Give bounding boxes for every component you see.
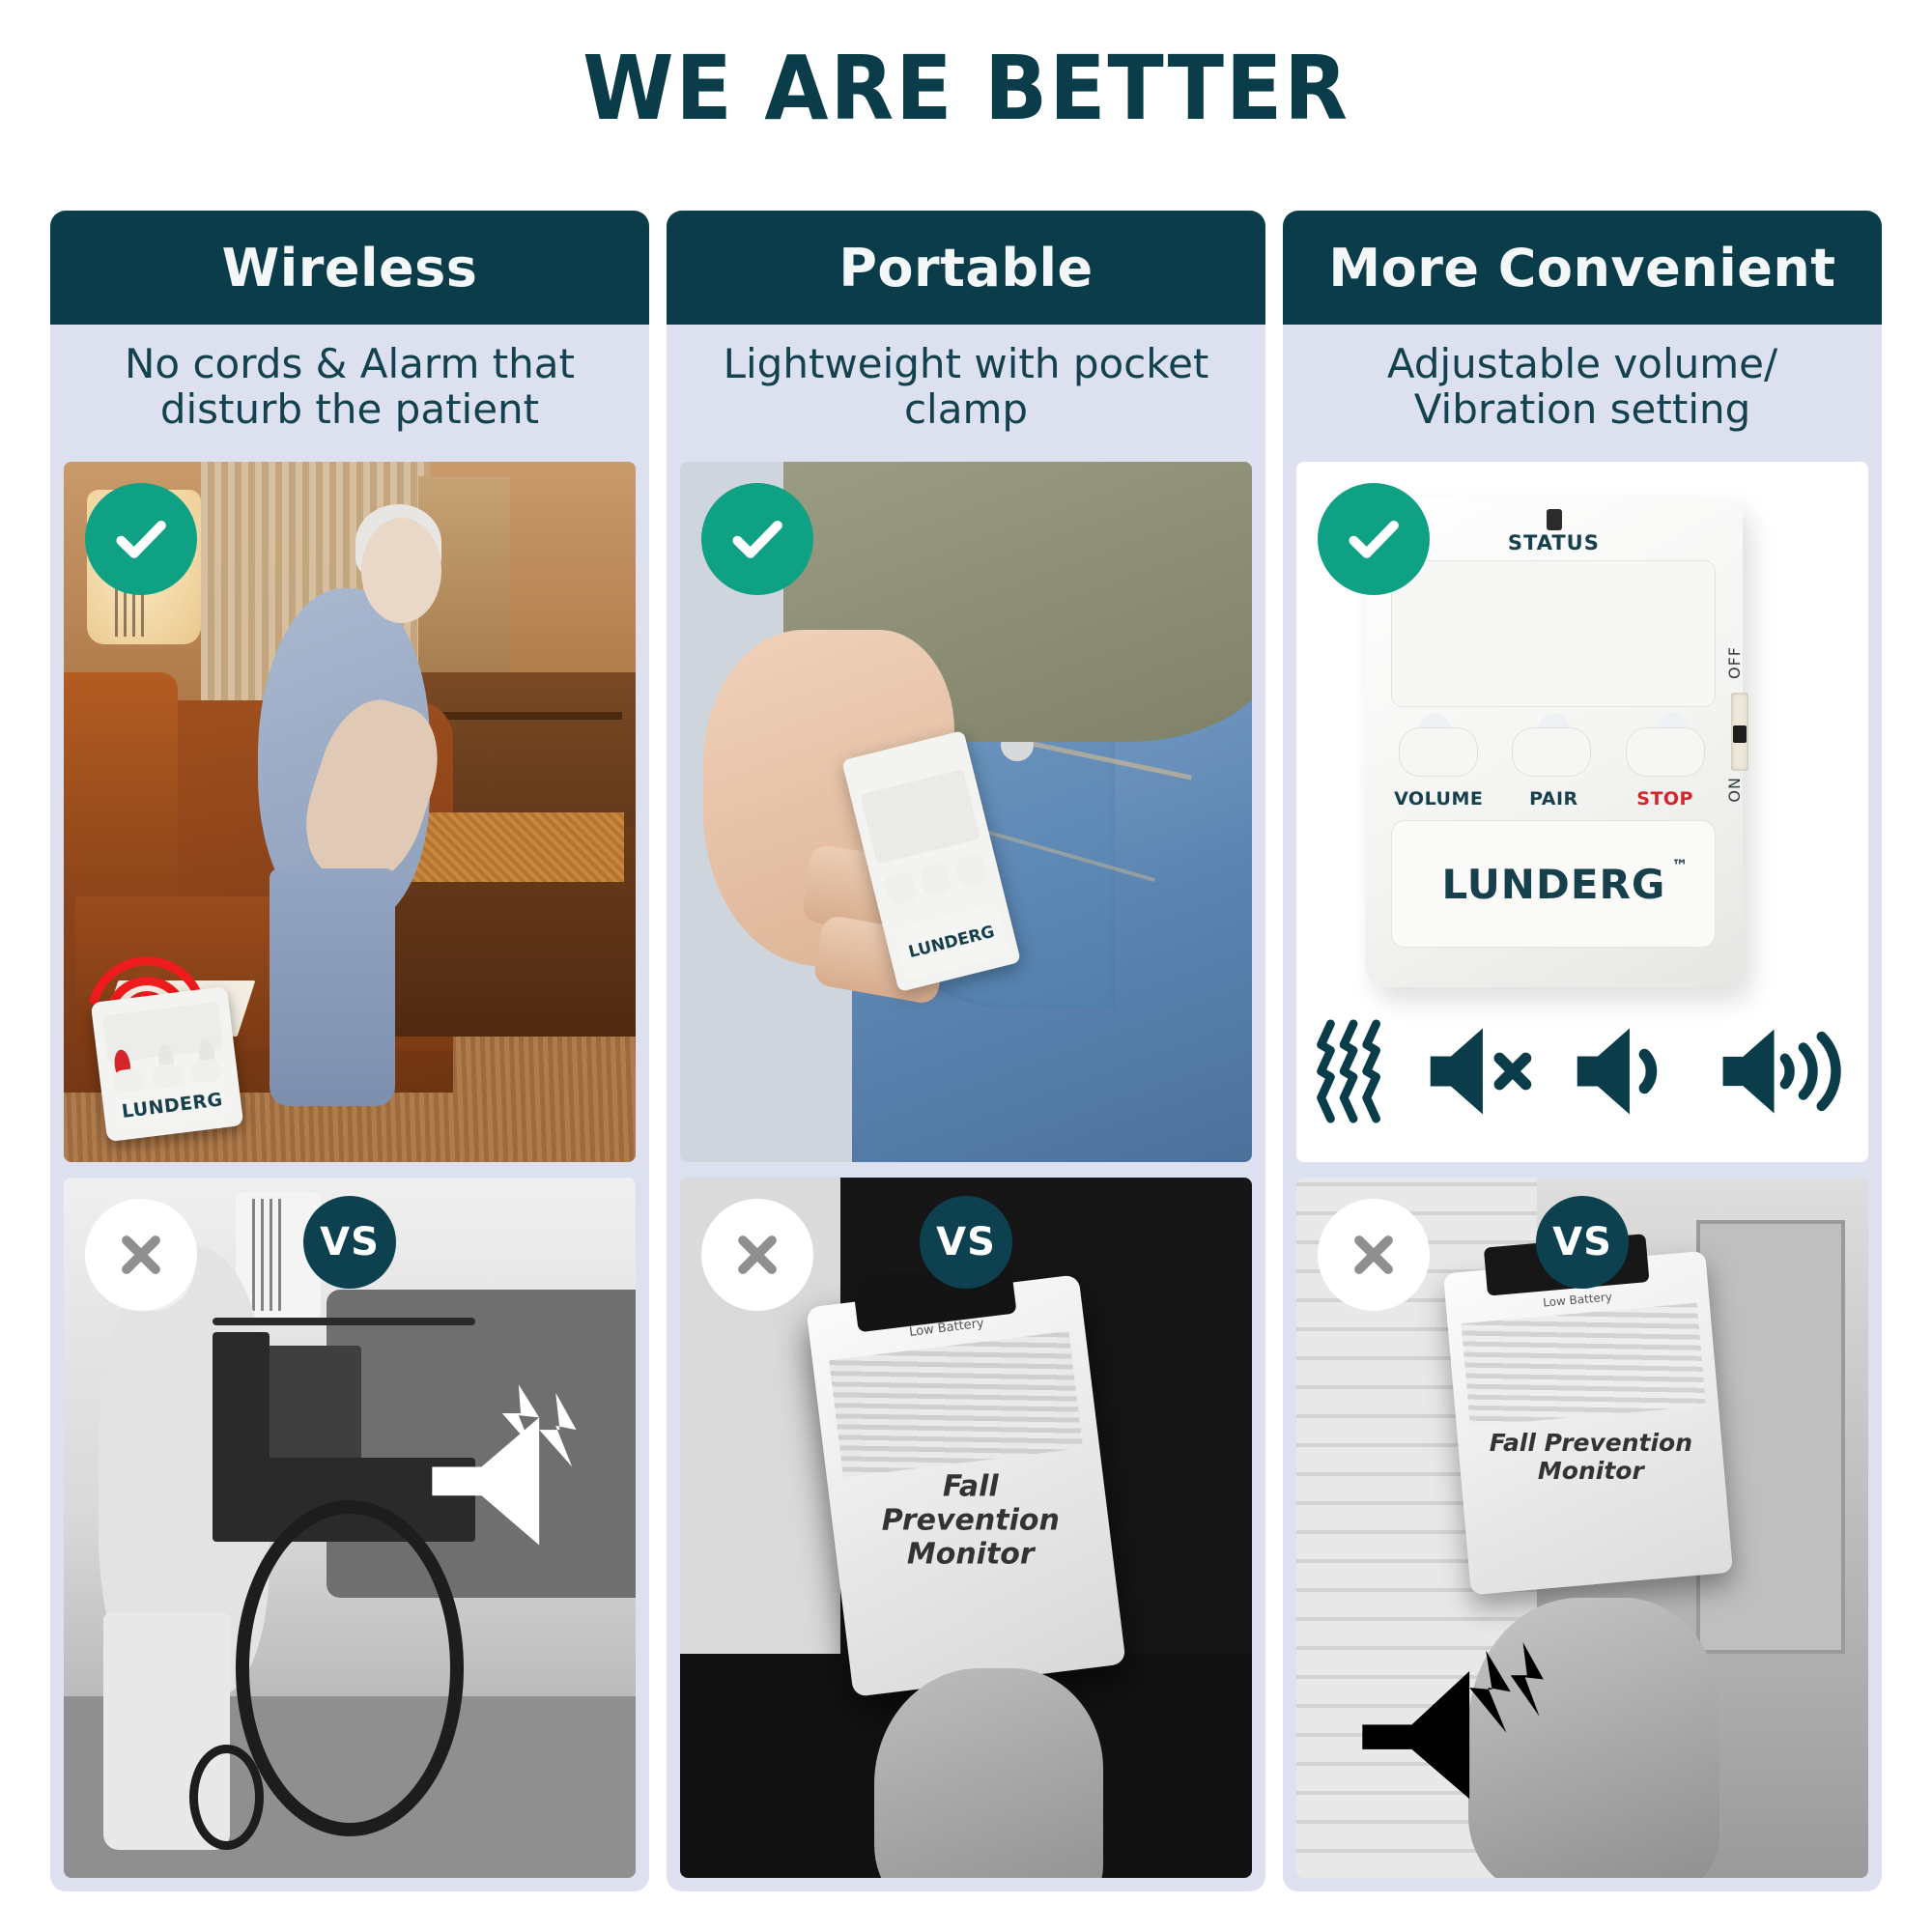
volume-icons-row [1314, 1015, 1851, 1127]
vs-badge-portable: VS [920, 1196, 1012, 1289]
check-icon [725, 507, 789, 571]
stop-button[interactable] [1626, 727, 1705, 777]
column-subtitle-portable: Lightweight with pocket clamp [667, 325, 1265, 448]
volume-high-icon [1716, 1020, 1851, 1122]
sensor-panel [1391, 560, 1716, 707]
competitor-monitor-device: Low Battery Fall Prevention Monitor [1443, 1251, 1733, 1595]
check-badge [85, 483, 197, 595]
low-battery-label: Low Battery [1524, 1290, 1631, 1311]
good-tile-more-convenient: STATUS Sensor 1 Sensor 2 [1296, 462, 1868, 1162]
switch-on-label: ON [1725, 777, 1744, 803]
cross-badge [1318, 1199, 1430, 1311]
column-wireless: Wireless No cords & Alarm that disturb t… [50, 211, 649, 1891]
check-icon [109, 507, 173, 571]
column-header-more-convenient: More Convenient [1283, 211, 1882, 325]
close-icon [1344, 1225, 1404, 1285]
column-portable: Portable Lightweight with pocket clamp [667, 211, 1265, 1891]
column-more-convenient: More Convenient Adjustable volume/ Vibra… [1283, 211, 1882, 1891]
column-body-portable: LUNDERG VS [667, 448, 1265, 1891]
brand-plate: LUNDERG™ [1391, 820, 1716, 948]
page-title: WE ARE BETTER [68, 37, 1864, 140]
check-badge [1318, 483, 1430, 595]
vs-badge-more-convenient: VS [1536, 1196, 1629, 1289]
switch-off-label: OFF [1725, 646, 1744, 679]
close-icon [727, 1225, 787, 1285]
status-led-icon [1547, 509, 1562, 530]
column-header-portable: Portable [667, 211, 1265, 325]
competitor-device-title: Fall Prevention Monitor [1475, 1429, 1707, 1485]
volume-low-icon [1570, 1020, 1686, 1122]
vibration-icon [1314, 1018, 1393, 1124]
column-body-wireless: LUNDERG VS [50, 448, 649, 1891]
volume-button-label: VOLUME [1389, 788, 1488, 810]
pair-button[interactable] [1512, 727, 1591, 777]
alarm-noise-icon [1342, 1626, 1548, 1836]
competitor-device-title: Fall Prevention Monitor [855, 1469, 1086, 1571]
alarm-noise-icon [395, 1360, 601, 1599]
check-icon [1342, 507, 1406, 571]
cross-badge [85, 1199, 197, 1311]
volume-mute-icon [1423, 1020, 1539, 1122]
good-tile-portable: LUNDERG [680, 462, 1252, 1162]
power-switch[interactable] [1731, 693, 1748, 771]
column-body-more-convenient: STATUS Sensor 1 Sensor 2 [1283, 448, 1882, 1891]
lunderg-remote-device: LUNDERG [90, 986, 243, 1142]
good-tile-wireless: LUNDERG [64, 462, 636, 1162]
pair-button-label: PAIR [1505, 788, 1604, 810]
column-subtitle-more-convenient: Adjustable volume/ Vibration setting [1283, 325, 1882, 448]
competitor-monitor-device: Low Battery Fall Prevention Monitor [806, 1274, 1126, 1697]
brand-label: LUNDERG™ [1441, 861, 1665, 908]
lunderg-monitor-device: STATUS Sensor 1 Sensor 2 [1365, 497, 1743, 987]
comparison-columns: Wireless No cords & Alarm that disturb t… [50, 211, 1882, 1891]
close-icon [111, 1225, 171, 1285]
column-subtitle-wireless: No cords & Alarm that disturb the patien… [50, 325, 649, 448]
vs-badge-wireless: VS [303, 1196, 396, 1289]
cross-badge [701, 1199, 813, 1311]
stop-button-label: STOP [1616, 788, 1715, 810]
volume-button[interactable] [1399, 727, 1478, 777]
infographic-page: WE ARE BETTER Wireless No cords & Alarm … [0, 0, 1932, 1932]
check-badge [701, 483, 813, 595]
trademark-symbol: ™ [1671, 857, 1689, 876]
column-header-wireless: Wireless [50, 211, 649, 325]
